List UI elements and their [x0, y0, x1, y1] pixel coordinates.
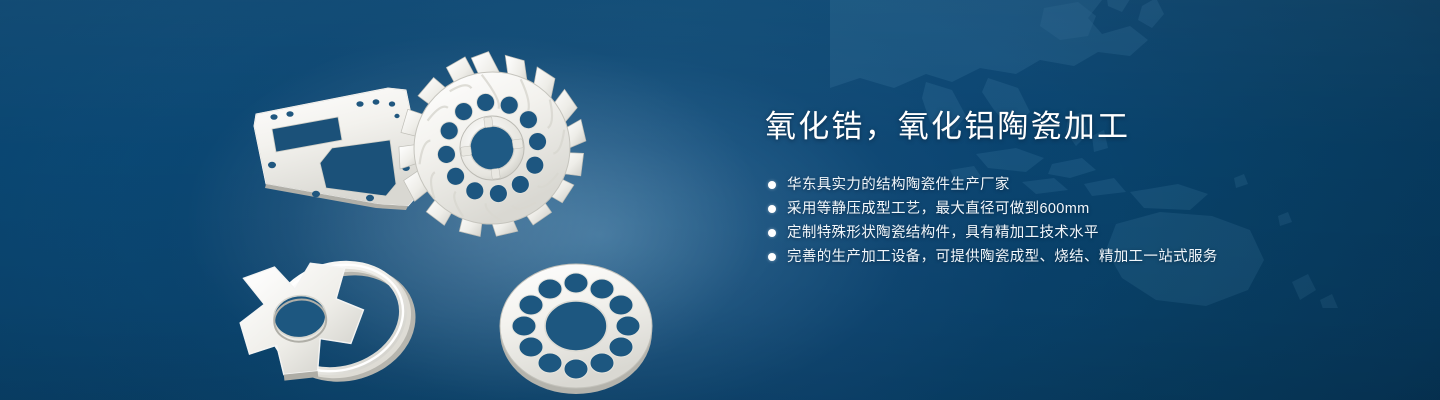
list-item: 华东具实力的结构陶瓷件生产厂家	[765, 173, 1385, 197]
bullet-dot-icon	[768, 181, 776, 189]
list-item-label: 完善的生产加工设备，可提供陶瓷成型、烧结、精加工一站式服务	[787, 249, 1218, 265]
list-item-label: 采用等静压成型工艺，最大直径可做到600mm	[787, 201, 1090, 217]
feature-list: 华东具实力的结构陶瓷件生产厂家 采用等静压成型工艺，最大直径可做到600mm 定…	[765, 173, 1385, 269]
ceramic-product-banner: 氧化锆，氧化铝陶瓷加工 华东具实力的结构陶瓷件生产厂家 采用等静压成型工艺，最大…	[0, 0, 1440, 400]
list-item: 完善的生产加工设备，可提供陶瓷成型、烧结、精加工一站式服务	[765, 245, 1385, 269]
list-item-label: 华东具实力的结构陶瓷件生产厂家	[787, 177, 1010, 193]
bullet-dot-icon	[768, 253, 776, 261]
bullet-dot-icon	[768, 205, 776, 213]
list-item-label: 定制特殊形状陶瓷结构件，具有精加工技术水平	[787, 225, 1099, 241]
bullet-dot-icon	[768, 229, 776, 237]
banner-copy: 氧化锆，氧化铝陶瓷加工 华东具实力的结构陶瓷件生产厂家 采用等静压成型工艺，最大…	[765, 108, 1385, 269]
list-item: 采用等静压成型工艺，最大直径可做到600mm	[765, 197, 1385, 221]
page-title: 氧化锆，氧化铝陶瓷加工	[765, 108, 1385, 147]
list-item: 定制特殊形状陶瓷结构件，具有精加工技术水平	[765, 221, 1385, 245]
